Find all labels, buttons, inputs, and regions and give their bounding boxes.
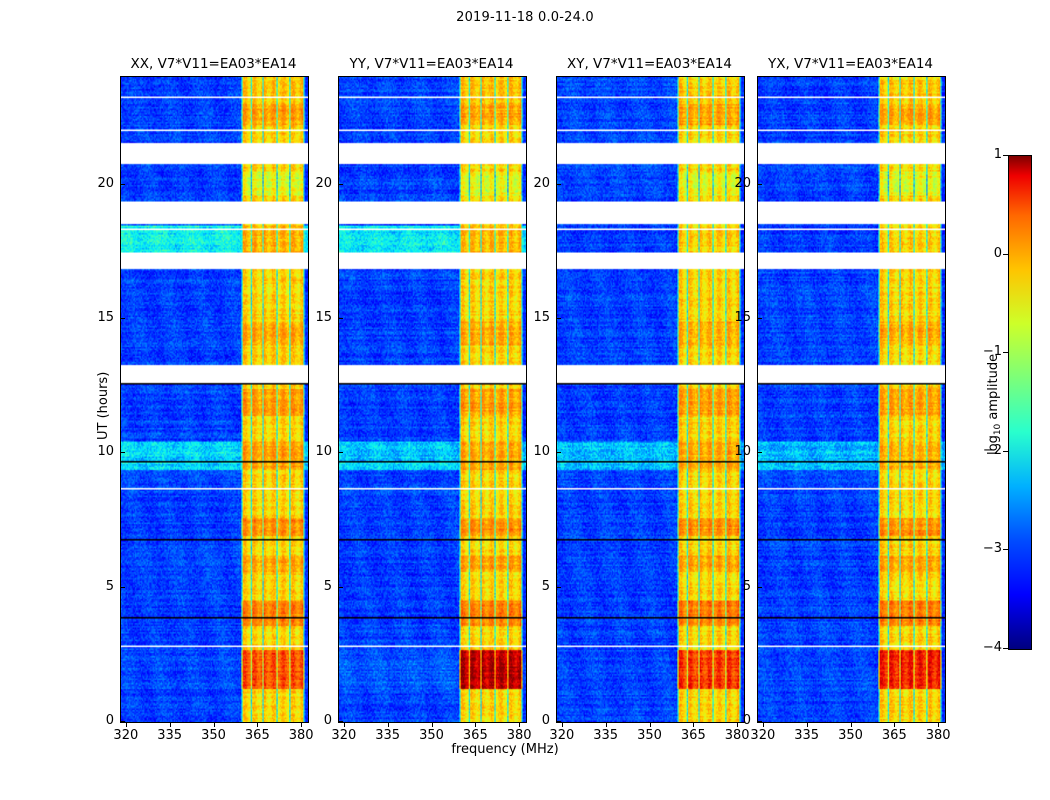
x-tick-label: 365 [452, 728, 498, 743]
y-tick-label: 15 [298, 310, 332, 325]
colorbar-tick-mark [1003, 254, 1008, 255]
colorbar-label-subscript: 10 [993, 424, 1003, 435]
panel-title-xy: XY, V7*V11=EA03*EA14 [556, 56, 743, 74]
waterfall-yx[interactable] [757, 76, 946, 723]
x-tick-mark [432, 722, 433, 727]
x-tick-label: 350 [191, 728, 237, 743]
x-tick-mark [650, 722, 651, 727]
colorbar-tick-mark [1003, 549, 1008, 550]
figure-suptitle: 2019-11-18 0.0-24.0 [0, 10, 1050, 25]
x-tick-mark [938, 722, 939, 727]
x-tick-label: 335 [583, 728, 629, 743]
y-tick-mark [120, 587, 125, 588]
x-tick-label: 365 [670, 728, 716, 743]
x-tick-mark [693, 722, 694, 727]
x-tick-mark [126, 722, 127, 727]
waterfall-xy[interactable] [556, 76, 745, 723]
panel-title-yy: YY, V7*V11=EA03*EA14 [338, 56, 525, 74]
x-tick-mark [606, 722, 607, 727]
y-tick-mark [338, 318, 343, 319]
x-tick-label: 380 [278, 728, 324, 743]
y-tick-label: 20 [80, 176, 114, 191]
x-axis-label: frequency (MHz) [380, 742, 630, 757]
waterfall-image-yy [339, 77, 526, 722]
y-tick-mark [556, 452, 561, 453]
x-tick-mark [344, 722, 345, 727]
x-tick-label: 335 [784, 728, 830, 743]
colorbar-tick-label: −3 [972, 541, 1002, 556]
y-tick-mark [120, 318, 125, 319]
y-tick-mark [120, 452, 125, 453]
y-tick-mark [120, 721, 125, 722]
y-tick-label: 0 [717, 713, 751, 728]
x-tick-label: 320 [539, 728, 585, 743]
colorbar-tick-mark [1003, 155, 1008, 156]
y-tick-label: 0 [80, 713, 114, 728]
colorbar-tick-mark [1003, 451, 1008, 452]
y-tick-label: 20 [298, 176, 332, 191]
y-tick-label: 15 [717, 310, 751, 325]
panel-title-xx: XX, V7*V11=EA03*EA14 [120, 56, 307, 74]
x-tick-label: 380 [915, 728, 961, 743]
y-tick-label: 0 [516, 713, 550, 728]
x-tick-label: 365 [234, 728, 280, 743]
colorbar-label-prefix: log [986, 435, 1001, 455]
colorbar-tick-label: 0 [972, 246, 1002, 261]
y-tick-label: 0 [298, 713, 332, 728]
waterfall-image-xy [557, 77, 744, 722]
y-tick-label: 10 [298, 444, 332, 459]
colorbar-tick-mark [1003, 352, 1008, 353]
y-tick-mark [556, 184, 561, 185]
y-tick-mark [757, 721, 762, 722]
waterfall-image-yx [758, 77, 945, 722]
y-tick-label: 5 [298, 579, 332, 594]
y-tick-mark [556, 587, 561, 588]
y-tick-label: 10 [717, 444, 751, 459]
x-tick-label: 320 [103, 728, 149, 743]
y-tick-mark [556, 721, 561, 722]
y-tick-label: 15 [80, 310, 114, 325]
x-tick-label: 320 [321, 728, 367, 743]
y-tick-mark [338, 452, 343, 453]
colorbar-label: log10 amplitude [986, 354, 1003, 455]
x-tick-mark [214, 722, 215, 727]
colorbar-tick-label: −4 [972, 640, 1002, 655]
y-tick-label: 15 [516, 310, 550, 325]
x-tick-mark [851, 722, 852, 727]
x-tick-mark [475, 722, 476, 727]
colorbar-tick-mark [1003, 648, 1008, 649]
y-tick-label: 5 [516, 579, 550, 594]
y-tick-label: 20 [717, 176, 751, 191]
x-tick-mark [170, 722, 171, 727]
x-tick-label: 335 [365, 728, 411, 743]
waterfall-yy[interactable] [338, 76, 527, 723]
x-tick-label: 365 [871, 728, 917, 743]
x-tick-label: 350 [409, 728, 455, 743]
x-tick-mark [763, 722, 764, 727]
y-tick-label: 5 [717, 579, 751, 594]
y-tick-mark [757, 184, 762, 185]
waterfall-xx[interactable] [120, 76, 309, 723]
y-tick-label: 20 [516, 176, 550, 191]
colorbar [1008, 155, 1032, 650]
x-tick-label: 380 [496, 728, 542, 743]
y-tick-label: 5 [80, 579, 114, 594]
y-tick-mark [556, 318, 561, 319]
y-tick-mark [338, 721, 343, 722]
x-tick-label: 335 [147, 728, 193, 743]
y-tick-label: 10 [80, 444, 114, 459]
x-tick-mark [388, 722, 389, 727]
y-tick-mark [757, 318, 762, 319]
waterfall-image-xx [121, 77, 308, 722]
y-axis-label: UT (hours) [96, 372, 111, 440]
y-tick-mark [757, 452, 762, 453]
x-tick-label: 350 [828, 728, 874, 743]
y-tick-mark [757, 587, 762, 588]
x-tick-label: 350 [627, 728, 673, 743]
x-tick-label: 320 [740, 728, 786, 743]
y-tick-mark [338, 184, 343, 185]
x-tick-mark [562, 722, 563, 727]
y-tick-label: 10 [516, 444, 550, 459]
panel-title-yx: YX, V7*V11=EA03*EA14 [757, 56, 944, 74]
colorbar-label-main: amplitude [986, 354, 1001, 420]
x-tick-mark [894, 722, 895, 727]
y-tick-mark [120, 184, 125, 185]
y-tick-mark [338, 587, 343, 588]
x-tick-mark [807, 722, 808, 727]
colorbar-tick-label: 1 [972, 147, 1002, 162]
x-tick-mark [257, 722, 258, 727]
figure-canvas: 2019-11-18 0.0-24.0 XX, V7*V11=EA03*EA14… [0, 0, 1050, 800]
